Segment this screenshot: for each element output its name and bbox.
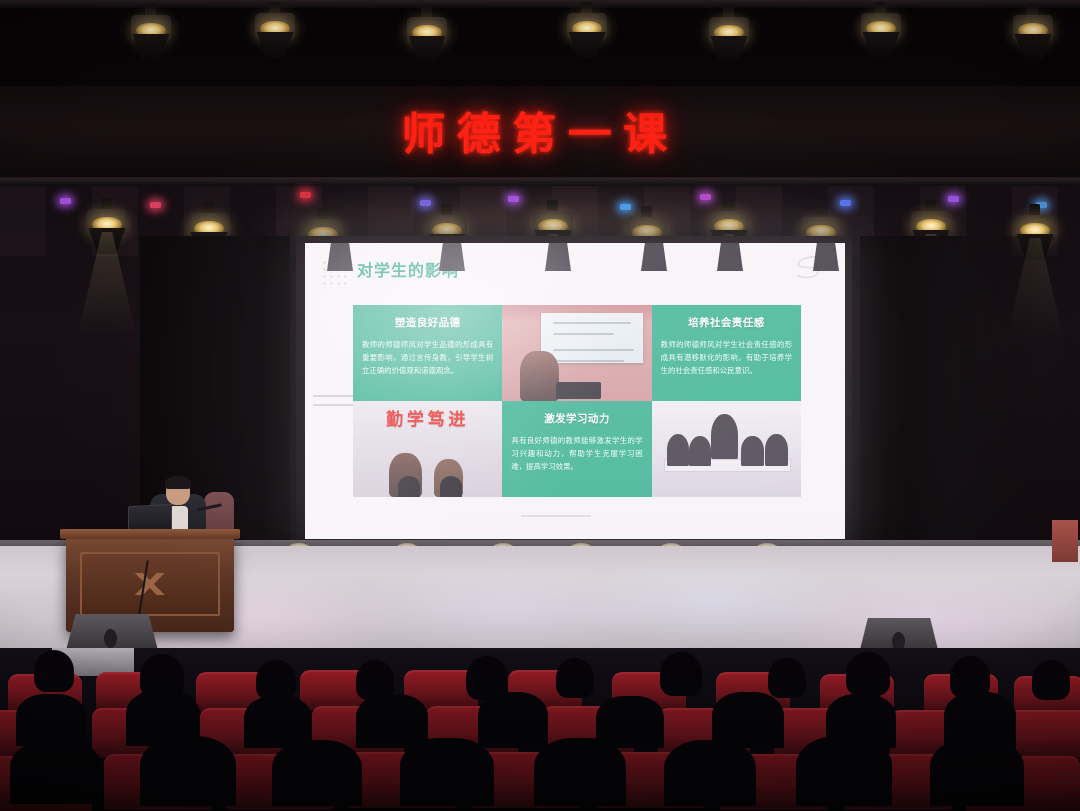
- stage-light-icon: [404, 6, 450, 66]
- stage-wing-right: [860, 236, 1080, 556]
- calligraphy-text: 勤学笃进: [353, 405, 502, 430]
- lamp-shadow: [327, 243, 353, 271]
- panel-heading: 激发学习动力: [502, 411, 651, 426]
- lighting-truss-top: [0, 0, 1080, 86]
- panel-character: 塑造良好品德 教师的师德师风对学生品德的形成具有重要影响，通过言传身教，引导学生…: [353, 305, 502, 401]
- side-stool: [1052, 520, 1078, 562]
- slide-footnote-mark: [521, 515, 591, 517]
- panel-motivation: 激发学习动力 具有良好师德的教师能够激发学生的学习兴趣和动力，帮助学生克服学习困…: [502, 401, 651, 497]
- audience-silhouette: [930, 738, 1024, 806]
- truss-bar: [0, 178, 1080, 186]
- stage-light-icon: [858, 2, 904, 62]
- audience-silhouette: [796, 736, 892, 806]
- audience-silhouette: [400, 738, 494, 806]
- audience-head: [256, 660, 296, 700]
- audience-head: [1032, 660, 1070, 700]
- led-chip-icon: [508, 196, 519, 202]
- speaker-hair: [165, 476, 191, 489]
- led-chip-icon: [300, 192, 311, 198]
- panel-body: 具有良好师德的教师能够激发学生的学习兴趣和动力，帮助学生克服学习困难，提高学习效…: [511, 435, 642, 474]
- presentation-slide: 对学生的影响 塑造良好品德 教师的师德师风对学生品德的形成具有重要影响，通过言传…: [305, 243, 845, 539]
- audience-silhouette: [272, 740, 362, 806]
- auditorium-scene: 师德第一课 对学生的影响: [0, 0, 1080, 811]
- stage-light-icon: [706, 6, 752, 66]
- panel-heading: 塑造良好品德: [353, 315, 502, 330]
- lamp-shadow: [545, 243, 571, 271]
- panel-body: 教师的师德师风对学生品德的形成具有重要影响，通过言传身教，引导学生树立正确的价值…: [362, 339, 493, 378]
- photo-lecture: [502, 305, 651, 401]
- audience-silhouette: [16, 694, 86, 746]
- stage-light-icon: [564, 2, 610, 62]
- audience-silhouette: [10, 740, 102, 804]
- panel-body: 教师的师德师风对学生社会责任感的形成具有潜移默化的影响，有助于培养学生的社会责任…: [661, 339, 792, 378]
- audience-head: [768, 658, 806, 698]
- lamp-shadow: [813, 243, 839, 271]
- audience-silhouette: [140, 736, 236, 806]
- audience-head: [846, 652, 890, 696]
- lamp-shadow: [641, 243, 667, 271]
- audience-silhouette: [596, 696, 664, 748]
- led-chip-icon: [60, 198, 71, 204]
- slide-content-grid: 塑造良好品德 教师的师德师风对学生品德的形成具有重要影响，通过言传身教，引导学生…: [353, 305, 801, 497]
- audience-head: [34, 650, 74, 692]
- audience-silhouette: [664, 740, 756, 806]
- banner-title-text: 师德第一课: [0, 98, 1080, 162]
- audience-silhouette: [534, 738, 626, 806]
- projection-screen: 对学生的影响 塑造良好品德 教师的师德师风对学生品德的形成具有重要影响，通过言传…: [305, 243, 845, 539]
- stage-light-icon: [128, 4, 174, 64]
- audience-silhouette: [356, 694, 428, 748]
- audience-head: [556, 658, 594, 698]
- stage-light-icon: [84, 198, 130, 258]
- stage-light-icon: [252, 2, 298, 62]
- lamp-shadow: [717, 243, 743, 271]
- audience-silhouette: [478, 692, 548, 748]
- led-chip-icon: [150, 202, 161, 208]
- panel-heading: 培养社会责任感: [652, 315, 801, 330]
- photo-students: 勤学笃进: [353, 401, 502, 497]
- photo-meeting: [652, 401, 801, 497]
- panel-responsibility: 培养社会责任感 教师的师德师风对学生社会责任感的形成具有潜移默化的影响，有助于培…: [652, 305, 801, 401]
- lamp-shadow: [439, 243, 465, 271]
- stage-light-icon: [1010, 4, 1056, 64]
- audience-area: [0, 648, 1080, 811]
- audience-head: [660, 652, 702, 696]
